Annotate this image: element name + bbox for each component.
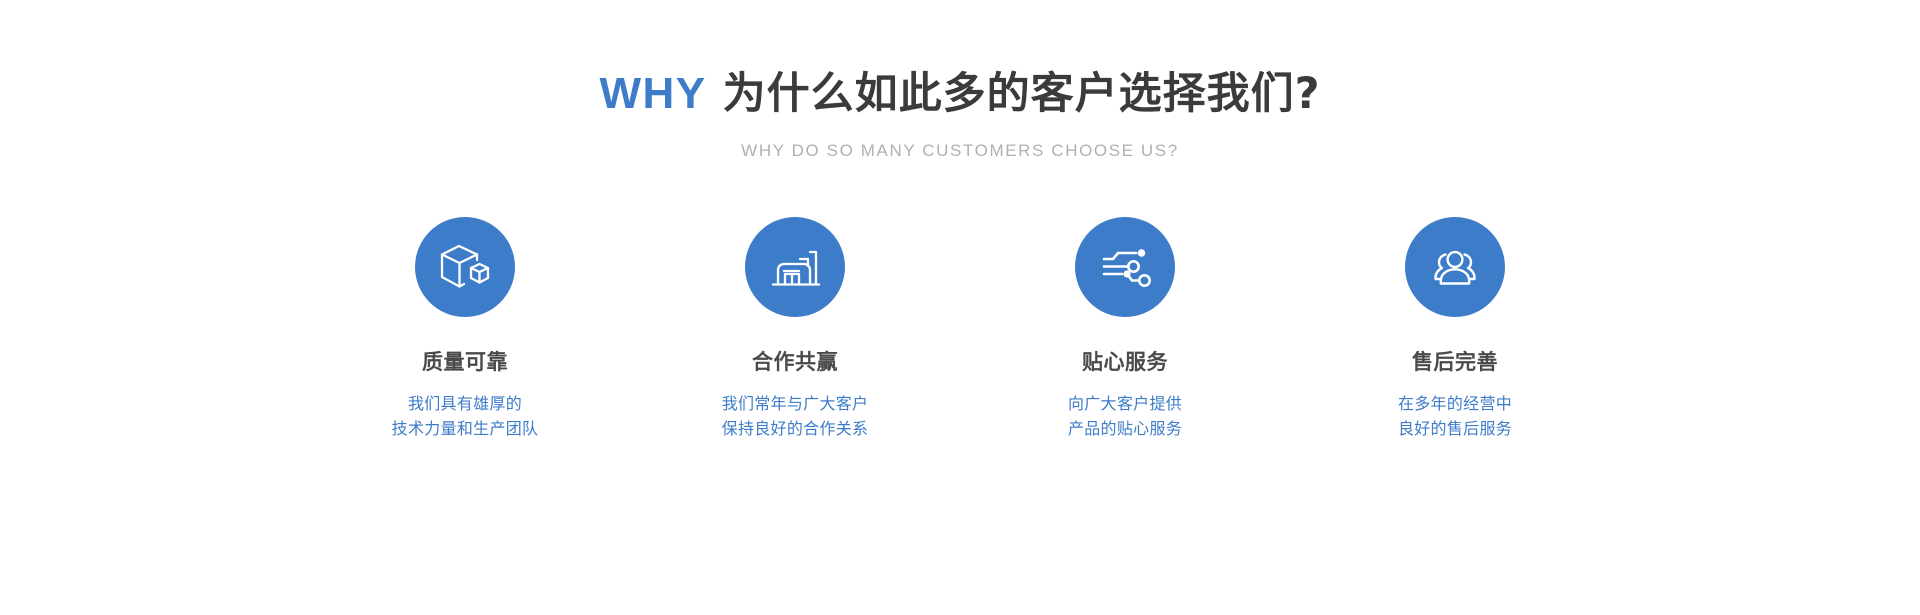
section-subtitle: WHY DO SO MANY CUSTOMERS CHOOSE US? <box>599 141 1320 161</box>
section-heading: WHY为什么如此多的客户选择我们? WHY DO SO MANY CUSTOME… <box>599 66 1320 161</box>
why-choose-us-section: WHY为什么如此多的客户选择我们? WHY DO SO MANY CUSTOME… <box>0 0 1920 615</box>
feature-card-description: 向广大客户提供 产品的贴心服务 <box>1068 391 1182 441</box>
feature-card-description-line: 技术力量和生产团队 <box>392 416 539 441</box>
feature-card-title: 质量可靠 <box>422 346 508 376</box>
feature-card-description-line: 产品的贴心服务 <box>1068 416 1182 441</box>
feature-card[interactable]: 贴心服务 向广大客户提供 产品的贴心服务 <box>1045 217 1205 441</box>
feature-card-title: 售后完善 <box>1412 346 1498 376</box>
feature-card[interactable]: 质量可靠 我们具有雄厚的 技术力量和生产团队 <box>385 217 545 441</box>
page-title: WHY为什么如此多的客户选择我们? <box>599 66 1320 122</box>
feature-card-description-line: 良好的售后服务 <box>1398 416 1512 441</box>
feature-card-description-line: 我们具有雄厚的 <box>392 391 539 416</box>
title-eyebrow-why: WHY <box>599 69 706 118</box>
feature-card-description-line: 我们常年与广大客户 <box>722 391 869 416</box>
feature-card-description-line: 在多年的经营中 <box>1398 391 1512 416</box>
feature-card[interactable]: 合作共赢 我们常年与广大客户 保持良好的合作关系 <box>715 217 875 441</box>
package-box-icon <box>415 217 515 317</box>
feature-card-description-line: 向广大客户提供 <box>1068 391 1182 416</box>
people-group-icon <box>1405 217 1505 317</box>
feature-card[interactable]: 售后完善 在多年的经营中 良好的售后服务 <box>1375 217 1535 441</box>
feature-card-description: 我们具有雄厚的 技术力量和生产团队 <box>392 391 539 441</box>
factory-icon <box>745 217 845 317</box>
feature-card-title: 合作共赢 <box>752 346 838 376</box>
feature-card-description: 我们常年与广大客户 保持良好的合作关系 <box>722 391 869 441</box>
circuit-nodes-icon <box>1075 217 1175 317</box>
feature-card-description: 在多年的经营中 良好的售后服务 <box>1398 391 1512 441</box>
title-chinese: 为什么如此多的客户选择我们? <box>723 69 1321 119</box>
feature-card-description-line: 保持良好的合作关系 <box>722 416 869 441</box>
feature-card-title: 贴心服务 <box>1082 346 1168 376</box>
feature-card-list: 质量可靠 我们具有雄厚的 技术力量和生产团队 <box>385 217 1535 441</box>
